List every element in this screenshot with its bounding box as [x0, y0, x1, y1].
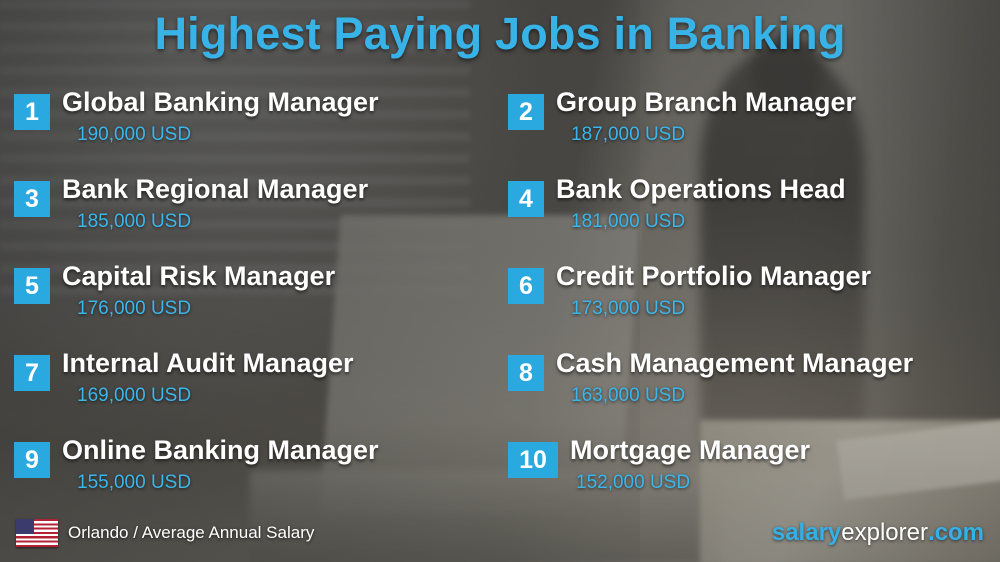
- job-title: Mortgage Manager: [570, 435, 810, 466]
- list-item: 10 Mortgage Manager 152,000 USD: [508, 432, 998, 519]
- list-item: 3 Bank Regional Manager 185,000 USD: [14, 171, 500, 258]
- salary-value: 152,000 USD: [576, 472, 690, 494]
- list-item: 8 Cash Management Manager 163,000 USD: [508, 345, 998, 432]
- rank-badge: 1: [14, 94, 50, 130]
- rank-badge: 2: [508, 94, 544, 130]
- rank-badge: 7: [14, 355, 50, 391]
- salary-value: 163,000 USD: [571, 385, 685, 407]
- salary-value: 176,000 USD: [77, 298, 191, 320]
- footer-caption: Orlando / Average Annual Salary: [68, 523, 314, 543]
- rank-badge: 9: [14, 442, 50, 478]
- rank-badge: 5: [14, 268, 50, 304]
- brand-explorer: explorer: [841, 519, 928, 546]
- list-item: 1 Global Banking Manager 190,000 USD: [14, 84, 500, 171]
- job-title: Global Banking Manager: [62, 87, 379, 118]
- salary-value: 187,000 USD: [571, 124, 685, 146]
- list-item: 2 Group Branch Manager 187,000 USD: [508, 84, 998, 171]
- list-item: 9 Online Banking Manager 155,000 USD: [14, 432, 500, 519]
- job-title: Credit Portfolio Manager: [556, 261, 871, 292]
- brand-tld: .com: [928, 519, 984, 546]
- brand-salary: salary: [772, 519, 841, 546]
- brand-logo[interactable]: salaryexplorer.com: [772, 519, 984, 547]
- list-item: 6 Credit Portfolio Manager 173,000 USD: [508, 258, 998, 345]
- rank-badge: 6: [508, 268, 544, 304]
- list-item: 4 Bank Operations Head 181,000 USD: [508, 171, 998, 258]
- job-title: Capital Risk Manager: [62, 261, 335, 292]
- job-title: Bank Regional Manager: [62, 174, 368, 205]
- job-title: Bank Operations Head: [556, 174, 846, 205]
- salary-value: 169,000 USD: [77, 385, 191, 407]
- salary-value: 155,000 USD: [77, 472, 191, 494]
- job-title: Cash Management Manager: [556, 348, 913, 379]
- page-title: Highest Paying Jobs in Banking: [0, 8, 1000, 60]
- content-layer: Highest Paying Jobs in Banking 1 Global …: [0, 0, 1000, 562]
- rank-badge: 8: [508, 355, 544, 391]
- rank-badge: 4: [508, 181, 544, 217]
- salary-value: 173,000 USD: [571, 298, 685, 320]
- salary-value: 181,000 USD: [571, 211, 685, 233]
- job-title: Group Branch Manager: [556, 87, 856, 118]
- list-item: 5 Capital Risk Manager 176,000 USD: [14, 258, 500, 345]
- rank-badge: 10: [508, 442, 558, 478]
- job-title: Online Banking Manager: [62, 435, 379, 466]
- rank-badge: 3: [14, 181, 50, 217]
- us-flag-icon: [16, 519, 58, 547]
- salary-value: 190,000 USD: [77, 124, 191, 146]
- flag-canton: [16, 519, 34, 534]
- list-item: 7 Internal Audit Manager 169,000 USD: [14, 345, 500, 432]
- salary-value: 185,000 USD: [77, 211, 191, 233]
- job-title: Internal Audit Manager: [62, 348, 354, 379]
- infographic-root: Highest Paying Jobs in Banking 1 Global …: [0, 0, 1000, 562]
